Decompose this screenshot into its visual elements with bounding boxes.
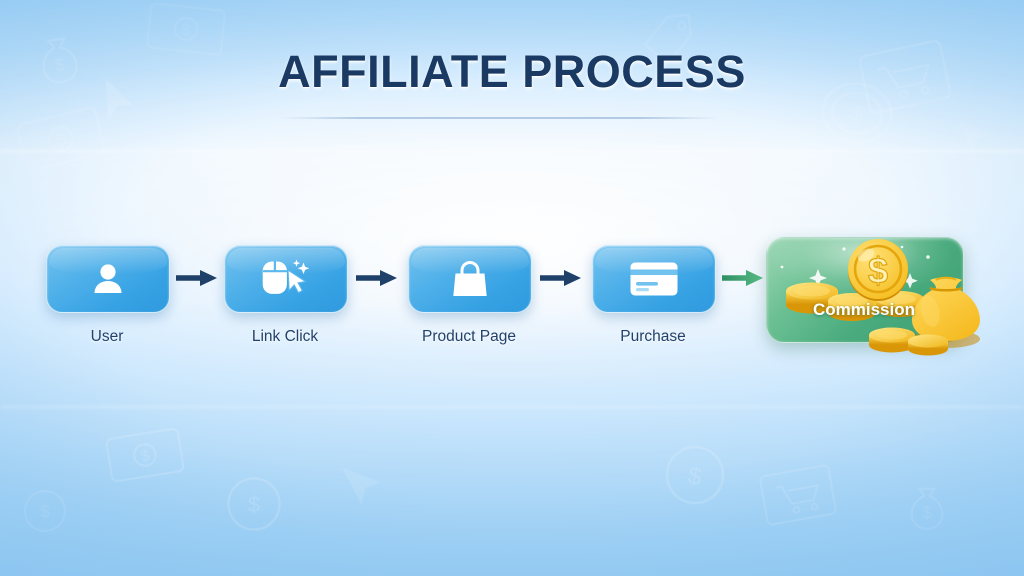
page-title: AFFILIATE PROCESS [0, 46, 1024, 98]
background-streak [0, 406, 1024, 408]
arrow-link-click-to-product [356, 267, 398, 294]
credit-card-icon [629, 261, 679, 297]
commission-card[interactable] [766, 237, 964, 343]
flow-step-product-page[interactable]: Product Page [408, 245, 549, 346]
title-divider [281, 117, 719, 119]
step-card[interactable] [46, 245, 170, 313]
flow-step-link-click[interactable]: Link Click [224, 245, 348, 346]
shopping-bag-icon [450, 258, 490, 300]
process-flow: User Link Click [0, 245, 1024, 375]
arrow-purchase-to-commission [722, 267, 764, 294]
user-icon [88, 259, 128, 299]
arrow-product-to-purchase [540, 267, 582, 294]
step-card[interactable] [408, 245, 532, 313]
flow-result-commission[interactable]: $ [766, 237, 962, 341]
page-title-wrap: AFFILIATE PROCESS [0, 46, 1024, 98]
commission-label: Commission [766, 300, 962, 320]
step-label: Purchase [592, 328, 714, 346]
arrow-user-to-link-click [176, 267, 218, 294]
flow-step-purchase[interactable]: Purchase [592, 245, 716, 346]
background-streak [0, 150, 1024, 152]
step-card[interactable] [224, 245, 348, 313]
step-label: Link Click [224, 328, 346, 346]
infographic-canvas: $ $ $ $ $ [0, 0, 1024, 576]
step-label: User [46, 328, 168, 346]
step-card[interactable] [592, 245, 716, 313]
step-label: Product Page [389, 328, 549, 346]
mouse-cursor-icon [259, 257, 313, 301]
flow-step-user[interactable]: User [46, 245, 170, 346]
